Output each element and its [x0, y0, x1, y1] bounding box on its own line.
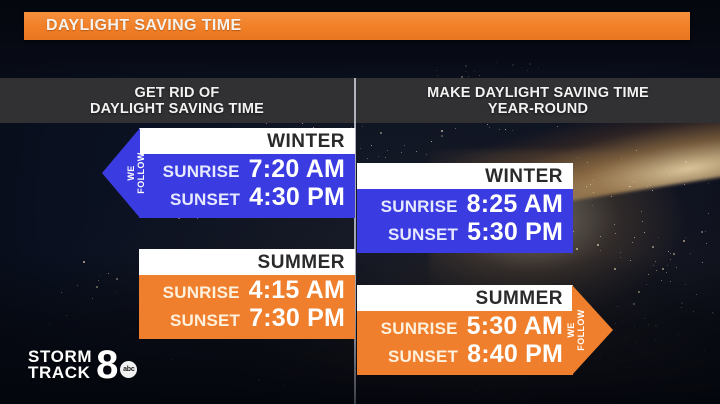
- panel-left-winter-body: SUNRISE 7:20 AM SUNSET 4:30 PM: [139, 154, 355, 218]
- banner-title: DAYLIGHT SAVING TIME: [24, 17, 242, 35]
- panel-left-summer: SUMMER SUNRISE 4:15 AM SUNSET 7:30 PM: [139, 249, 355, 339]
- sunrise-label: SUNRISE: [163, 163, 240, 181]
- title-banner: DAYLIGHT SAVING TIME: [24, 12, 690, 40]
- panel-right-winter: WINTER SUNRISE 8:25 AM SUNSET 5:30 PM: [357, 163, 573, 253]
- sunset-label: SUNSET: [170, 312, 240, 330]
- sunrise-value: 4:15 AM: [249, 278, 345, 303]
- panel-right-summer-body: SUNRISE 5:30 AM SUNSET 8:40 PM: [357, 311, 573, 375]
- season-label: SUMMER: [258, 253, 345, 272]
- panel-right-winter-body: SUNRISE 8:25 AM SUNSET 5:30 PM: [357, 189, 573, 253]
- sunset-value: 5:30 PM: [467, 220, 563, 245]
- broadcast-graphic: DAYLIGHT SAVING TIME GET RID OF DAYLIGHT…: [0, 0, 720, 404]
- sunrise-value: 7:20 AM: [249, 157, 345, 182]
- sunrise-value: 8:25 AM: [467, 192, 563, 217]
- panel-left-summer-title: SUMMER: [139, 249, 355, 275]
- station-logo: STORM TRACK 8 abc: [28, 347, 137, 383]
- sunset-row: SUNSET 8:40 PM: [367, 342, 563, 370]
- sunrise-row: SUNRISE 7:20 AM: [149, 157, 345, 185]
- column-header-left-line1: GET RID OF: [135, 85, 220, 101]
- we-follow-right-line2: FOLLOW: [576, 309, 586, 350]
- logo-wordmark: STORM TRACK: [28, 349, 92, 381]
- column-header-left-line2: DAYLIGHT SAVING TIME: [90, 101, 264, 117]
- column-header-right: MAKE DAYLIGHT SAVING TIME YEAR-ROUND: [356, 79, 720, 122]
- column-header-right-line2: YEAR-ROUND: [488, 101, 588, 117]
- panel-right-winter-title: WINTER: [357, 163, 573, 189]
- sunset-label: SUNSET: [388, 226, 458, 244]
- sunrise-value: 5:30 AM: [467, 314, 563, 339]
- column-divider: [354, 78, 356, 404]
- sunrise-row: SUNRISE 5:30 AM: [367, 314, 563, 342]
- sunrise-row: SUNRISE 4:15 AM: [149, 278, 345, 306]
- sunset-value: 4:30 PM: [249, 185, 345, 210]
- we-follow-arrow-left-icon: WE FOLLOW: [102, 128, 140, 218]
- season-label: SUMMER: [476, 289, 563, 308]
- sunset-label: SUNSET: [388, 348, 458, 366]
- we-follow-left-line2: FOLLOW: [137, 152, 147, 193]
- sunrise-row: SUNRISE 8:25 AM: [367, 192, 563, 220]
- logo-channel-number: 8: [96, 347, 118, 383]
- we-follow-right-line1: WE: [567, 309, 577, 350]
- we-follow-label-right: WE FOLLOW: [567, 309, 586, 350]
- sunset-label: SUNSET: [170, 191, 240, 209]
- abc-network-label: abc: [123, 366, 134, 373]
- sunset-row: SUNSET 7:30 PM: [149, 306, 345, 334]
- sunset-row: SUNSET 5:30 PM: [367, 220, 563, 248]
- sunrise-label: SUNRISE: [381, 198, 458, 216]
- abc-network-icon: abc: [120, 361, 137, 378]
- sunset-row: SUNSET 4:30 PM: [149, 185, 345, 213]
- season-label: WINTER: [485, 167, 563, 186]
- panel-left-winter-title: WINTER: [139, 128, 355, 154]
- season-label: WINTER: [267, 132, 345, 151]
- panel-left-summer-body: SUNRISE 4:15 AM SUNSET 7:30 PM: [139, 275, 355, 339]
- sunrise-label: SUNRISE: [163, 284, 240, 302]
- sunrise-label: SUNRISE: [381, 320, 458, 338]
- we-follow-arrow-right-icon: WE FOLLOW: [572, 285, 613, 375]
- panel-right-summer-title: SUMMER: [357, 285, 573, 311]
- we-follow-label-left: WE FOLLOW: [127, 152, 146, 193]
- logo-line2: TRACK: [28, 365, 92, 381]
- panel-left-winter: WE FOLLOW WINTER SUNRISE 7:20 AM SUNSET …: [139, 128, 355, 218]
- sunset-value: 8:40 PM: [467, 342, 563, 367]
- column-header-right-line1: MAKE DAYLIGHT SAVING TIME: [427, 85, 649, 101]
- sunset-value: 7:30 PM: [249, 306, 345, 331]
- column-header-left: GET RID OF DAYLIGHT SAVING TIME: [0, 79, 354, 122]
- panel-right-summer: WE FOLLOW SUMMER SUNRISE 5:30 AM SUNSET …: [357, 285, 573, 375]
